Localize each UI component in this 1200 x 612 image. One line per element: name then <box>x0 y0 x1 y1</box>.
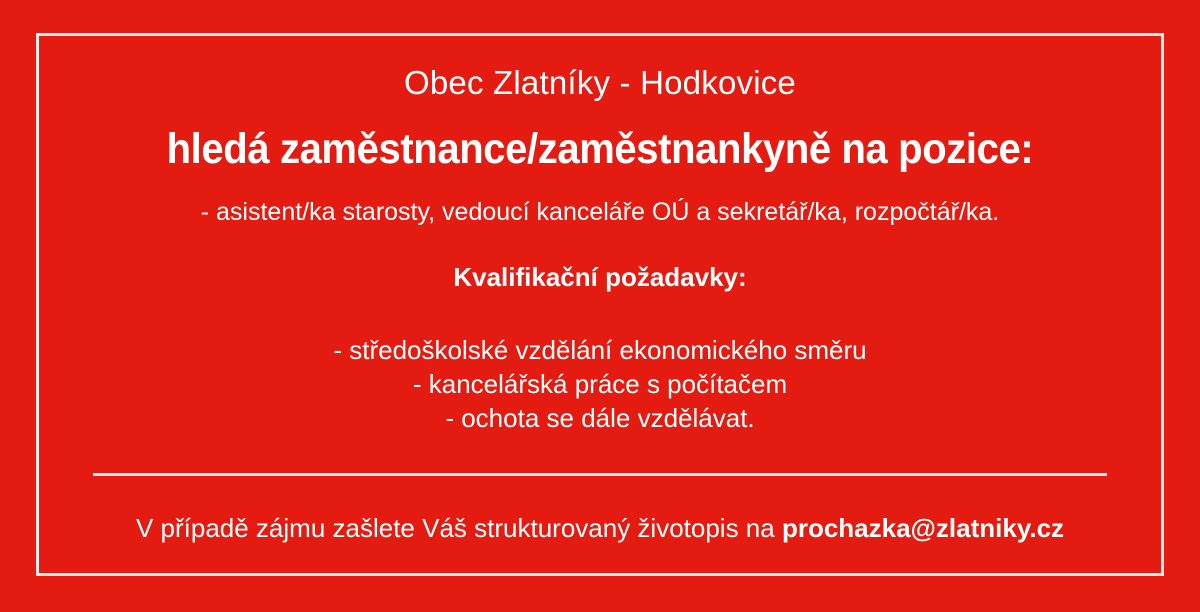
contact-line: V případě zájmu zašlete Váš strukturovan… <box>136 514 1064 544</box>
horizontal-divider <box>93 473 1107 476</box>
job-advert-poster: Obec Zlatníky - Hodkovice hledá zaměstna… <box>0 0 1200 612</box>
poster-content: Obec Zlatníky - Hodkovice hledá zaměstna… <box>40 37 1160 572</box>
requirements-list: - středoškolské vzdělání ekonomického sm… <box>333 333 866 436</box>
requirement-item: - kancelářská práce s počítačem <box>413 367 787 401</box>
organization-name: Obec Zlatníky - Hodkovice <box>404 65 796 101</box>
headline: hledá zaměstnance/zaměstnankyně na pozic… <box>167 127 1034 172</box>
position-line: - asistent/ka starosty, vedoucí kancelář… <box>201 198 1000 227</box>
contact-prefix-text: V případě zájmu zašlete Váš strukturovan… <box>136 513 782 543</box>
requirement-item: - ochota se dále vzdělávat. <box>445 401 754 435</box>
contact-email[interactable]: prochazka@zlatniky.cz <box>782 513 1064 543</box>
requirement-item: - středoškolské vzdělání ekonomického sm… <box>333 333 866 367</box>
requirements-heading: Kvalifikační požadavky: <box>453 263 746 292</box>
